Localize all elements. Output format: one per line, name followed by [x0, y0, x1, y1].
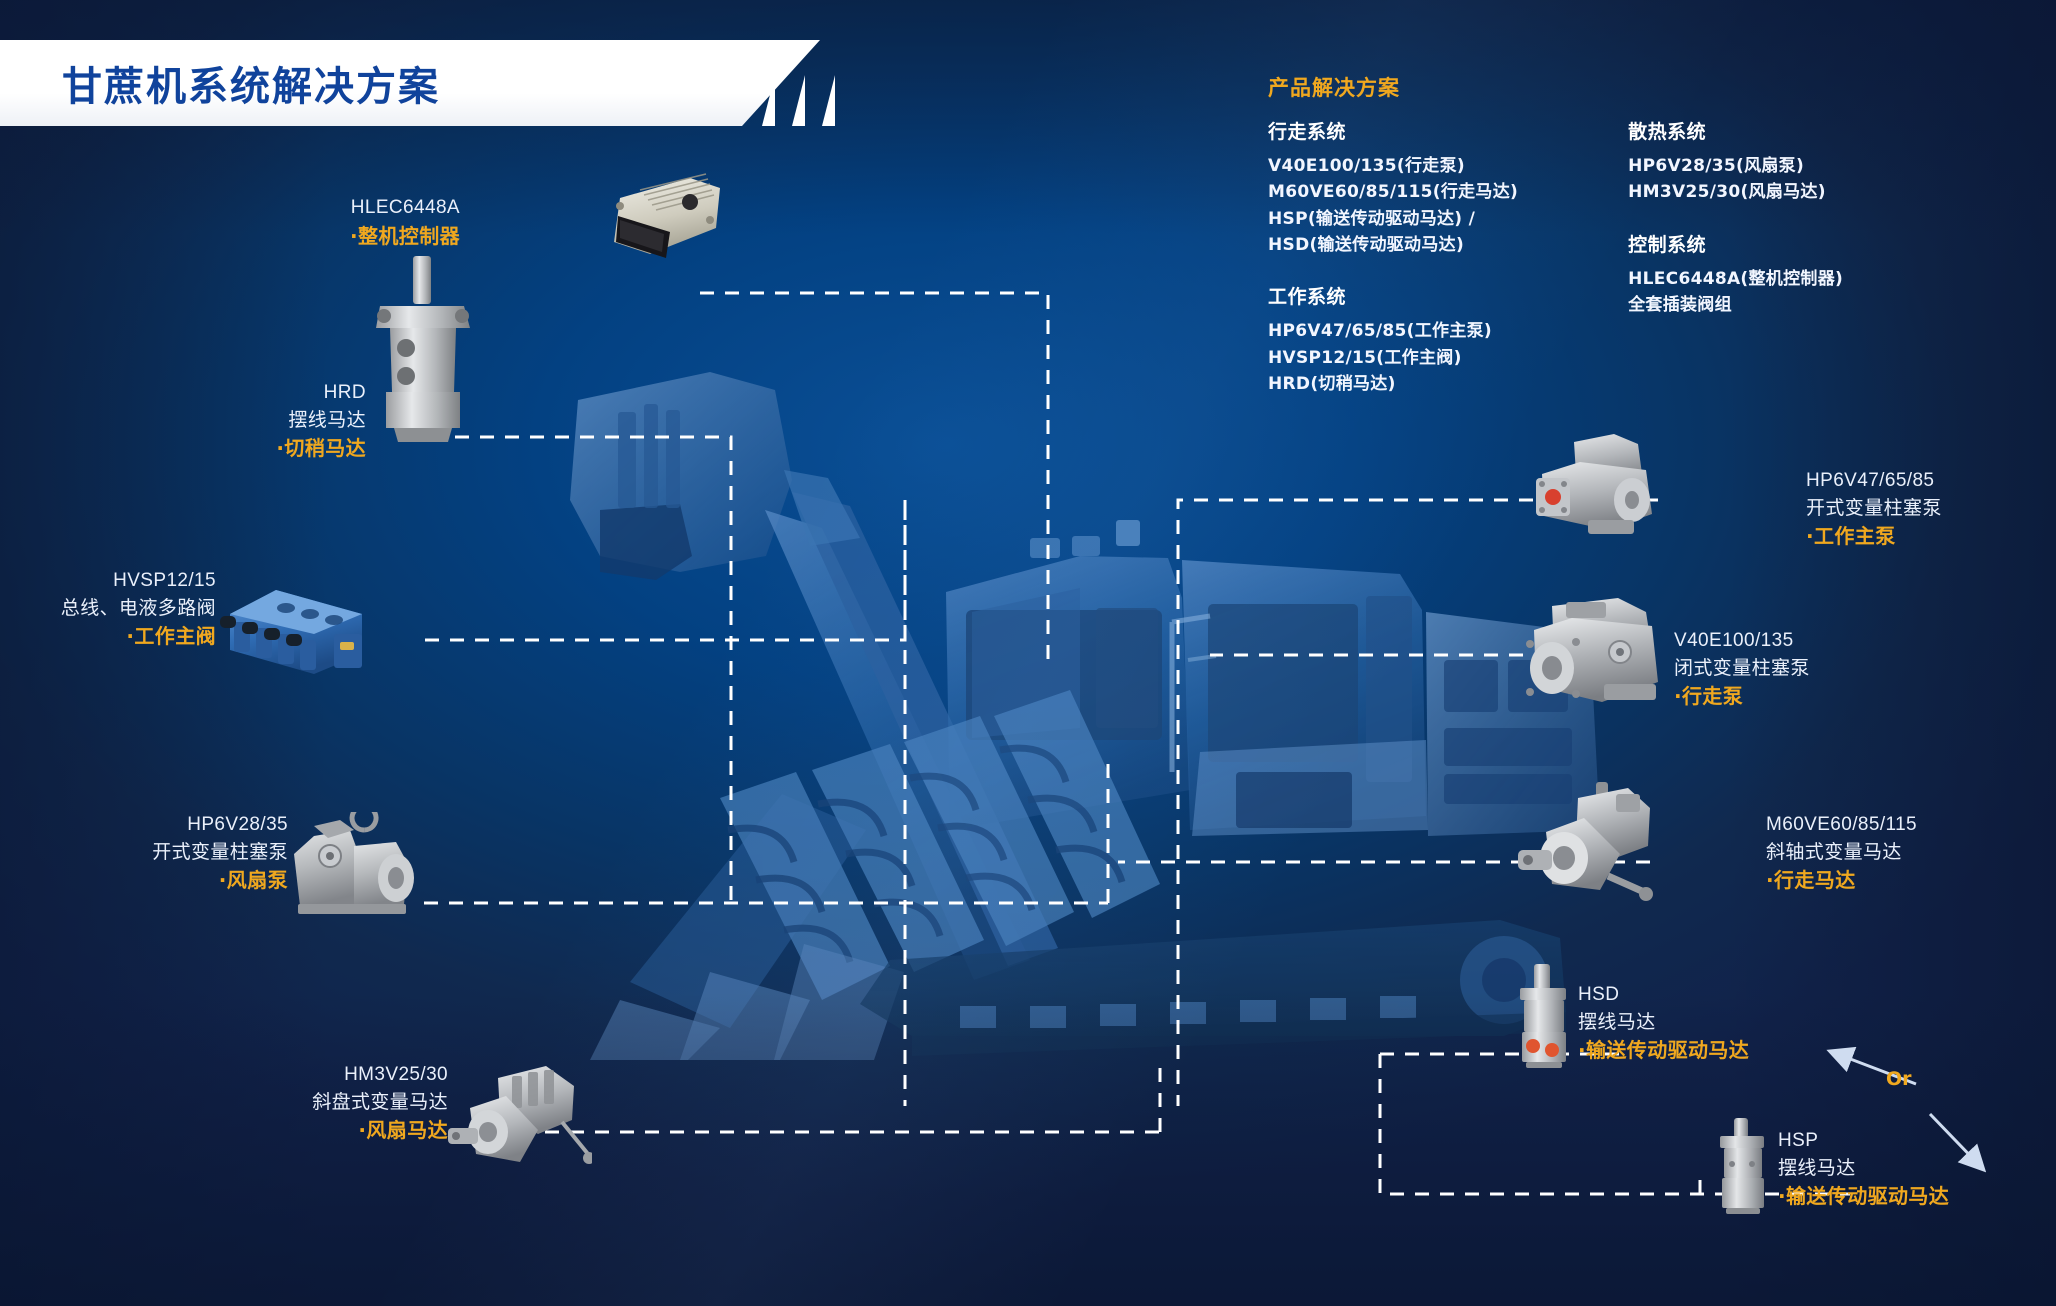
callout-desc: 闭式变量柱塞泵 — [1674, 655, 1810, 682]
callout-desc: 开式变量柱塞泵 — [1806, 495, 1942, 522]
callout-role: ·输送传动驱动马达 — [1578, 1036, 1749, 1064]
product-image-hrd-motor — [368, 252, 478, 444]
callout-role: ·整机控制器 — [350, 222, 460, 250]
callout-desc: 总线、电液多路阀 — [61, 595, 216, 622]
legend-item: HSP(输送传动驱动马达) / — [1268, 206, 1518, 232]
callout-desc: 斜盘式变量马达 — [312, 1089, 448, 1116]
legend-column-right: 散热系统 HP6V28/35(风扇泵) HM3V25/30(风扇马达) 控制系统… — [1628, 117, 1843, 397]
legend-item: V40E100/135(行走泵) — [1268, 153, 1518, 179]
callout-code: M60VE60/85/115 — [1766, 812, 1917, 839]
header-banner: 甘蔗机系统解决方案 — [0, 40, 880, 126]
callout-hp6v47: HP6V47/65/85 开式变量柱塞泵 ·工作主泵 — [1806, 468, 1942, 550]
product-image-hp6v47-work-pump — [1528, 430, 1668, 540]
legend-item: HP6V47/65/85(工作主泵) — [1268, 318, 1518, 344]
callout-code: HM3V25/30 — [312, 1062, 448, 1089]
callout-role: ·行走泵 — [1674, 682, 1810, 710]
callout-m60ve: M60VE60/85/115 斜轴式变量马达 ·行走马达 — [1766, 812, 1917, 894]
legend-group-heading: 控制系统 — [1628, 230, 1843, 257]
legend-item: HP6V28/35(风扇泵) — [1628, 153, 1843, 179]
callout-role: ·风扇马达 — [312, 1116, 448, 1144]
callout-role: ·行走马达 — [1766, 866, 1917, 894]
product-image-hsp-motor — [1706, 1118, 1780, 1218]
callout-code: HVSP12/15 — [61, 568, 216, 595]
callout-role: ·输送传动驱动马达 — [1778, 1182, 1949, 1210]
callout-code: HRD — [276, 380, 366, 407]
callout-code: HP6V47/65/85 — [1806, 468, 1942, 495]
product-image-hp6v28-fan-pump — [284, 812, 416, 924]
callout-hrd: HRD 摆线马达 ·切稍马达 — [276, 380, 366, 462]
callout-hsd: HSD 摆线马达 ·输送传动驱动马达 — [1578, 982, 1749, 1064]
legend-item: HRD(切稍马达) — [1268, 371, 1518, 397]
callout-role: ·工作主泵 — [1806, 522, 1942, 550]
callout-code: HSD — [1578, 982, 1749, 1009]
legend-column-left: 行走系统 V40E100/135(行走泵) M60VE60/85/115(行走马… — [1268, 117, 1518, 397]
callout-code: HP6V28/35 — [152, 812, 288, 839]
callout-desc: 摆线马达 — [1578, 1009, 1749, 1036]
callout-v40e: V40E100/135 闭式变量柱塞泵 ·行走泵 — [1674, 628, 1810, 710]
product-image-v40e-travel-pump — [1506, 592, 1666, 712]
legend-item: M60VE60/85/115(行走马达) — [1268, 179, 1518, 205]
callout-hm3v25: HM3V25/30 斜盘式变量马达 ·风扇马达 — [312, 1062, 448, 1144]
callout-desc: 开式变量柱塞泵 — [152, 839, 288, 866]
callout-hlec6448a: HLEC6448A ·整机控制器 — [350, 195, 460, 250]
product-image-hsd-motor — [1504, 962, 1582, 1070]
legend-group-cooling: 散热系统 HP6V28/35(风扇泵) HM3V25/30(风扇马达) — [1628, 117, 1843, 206]
legend-group-control: 控制系统 HLEC6448A(整机控制器) 全套插装阀组 — [1628, 230, 1843, 319]
legend-item: HVSP12/15(工作主阀) — [1268, 345, 1518, 371]
legend-group-heading: 工作系统 — [1268, 282, 1518, 309]
legend-group-heading: 散热系统 — [1628, 117, 1843, 144]
legend-item: HLEC6448A(整机控制器) — [1628, 266, 1843, 292]
or-label: Or — [1886, 1068, 1912, 1090]
legend-title: 产品解决方案 — [1268, 72, 2008, 102]
callout-role: ·工作主阀 — [61, 622, 216, 650]
callout-role: ·风扇泵 — [152, 866, 288, 894]
poster-canvas: 甘蔗机系统解决方案 产品解决方案 行走系统 V40E100/135(行走泵) M… — [0, 0, 2056, 1306]
or-selector-arrows — [1820, 1018, 2000, 1178]
product-image-hm3v25-fan-motor — [442, 1058, 592, 1176]
legend-group-travel: 行走系统 V40E100/135(行走泵) M60VE60/85/115(行走马… — [1268, 117, 1518, 258]
callout-code: HLEC6448A — [350, 195, 460, 222]
legend-panel: 产品解决方案 行走系统 V40E100/135(行走泵) M60VE60/85/… — [1268, 72, 2008, 397]
callout-code: V40E100/135 — [1674, 628, 1810, 655]
legend-item: HSD(输送传动驱动马达) — [1268, 232, 1518, 258]
product-image-hvsp-valve-bank — [212, 570, 382, 680]
product-image-hlec6448a-controller — [598, 172, 728, 264]
legend-group-work: 工作系统 HP6V47/65/85(工作主泵) HVSP12/15(工作主阀) … — [1268, 282, 1518, 397]
callout-role: ·切稍马达 — [276, 434, 366, 462]
legend-item: 全套插装阀组 — [1628, 292, 1843, 318]
callout-desc: 斜轴式变量马达 — [1766, 839, 1917, 866]
callout-desc: 摆线马达 — [276, 407, 366, 434]
header-slash-decoration — [762, 40, 882, 126]
callout-hp6v28: HP6V28/35 开式变量柱塞泵 ·风扇泵 — [152, 812, 288, 894]
callout-hvsp: HVSP12/15 总线、电液多路阀 ·工作主阀 — [61, 568, 216, 650]
product-image-m60ve-travel-motor — [1512, 780, 1658, 908]
legend-item: HM3V25/30(风扇马达) — [1628, 179, 1843, 205]
legend-group-heading: 行走系统 — [1268, 117, 1518, 144]
page-title: 甘蔗机系统解决方案 — [62, 40, 440, 126]
